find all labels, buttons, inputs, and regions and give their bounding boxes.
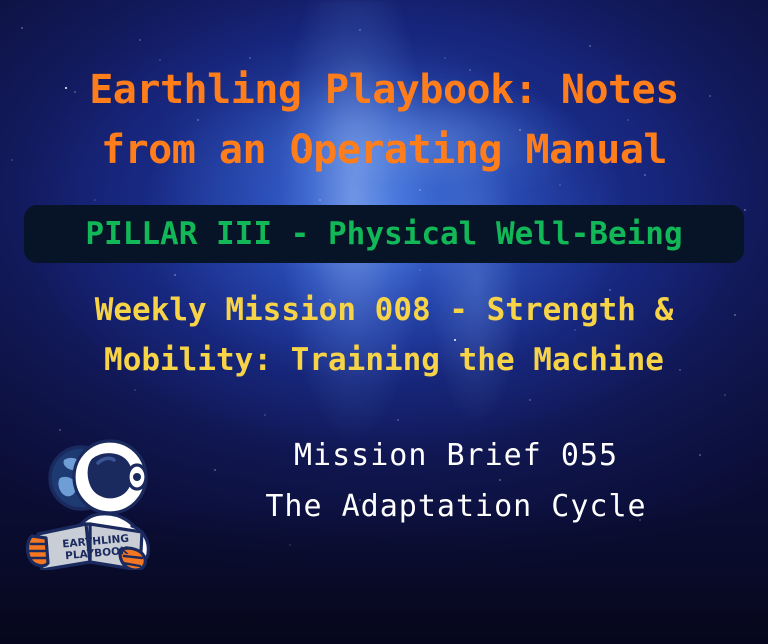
slide-content: Earthling Playbook: Notes from an Operat… bbox=[0, 0, 768, 644]
mission-brief: Mission Brief 055 The Adaptation Cycle bbox=[176, 430, 736, 532]
title-line-1: Earthling Playbook: Notes bbox=[0, 60, 768, 120]
brief-line-1: Mission Brief 055 bbox=[176, 430, 736, 481]
astronaut-reading-icon: EARTHLING PLAYBOOK bbox=[24, 430, 174, 570]
mission-heading: Weekly Mission 008 - Strength & Mobility… bbox=[0, 285, 768, 385]
slide-canvas: Earthling Playbook: Notes from an Operat… bbox=[0, 0, 768, 644]
mission-line-1: Weekly Mission 008 - Strength & bbox=[0, 285, 768, 335]
title-line-2: from an Operating Manual bbox=[0, 120, 768, 180]
pillar-banner: PILLAR III - Physical Well-Being bbox=[24, 205, 744, 263]
mission-line-2: Mobility: Training the Machine bbox=[0, 335, 768, 385]
pillar-label: PILLAR III - Physical Well-Being bbox=[85, 216, 682, 252]
brief-line-2: The Adaptation Cycle bbox=[176, 481, 736, 532]
page-title: Earthling Playbook: Notes from an Operat… bbox=[0, 60, 768, 180]
